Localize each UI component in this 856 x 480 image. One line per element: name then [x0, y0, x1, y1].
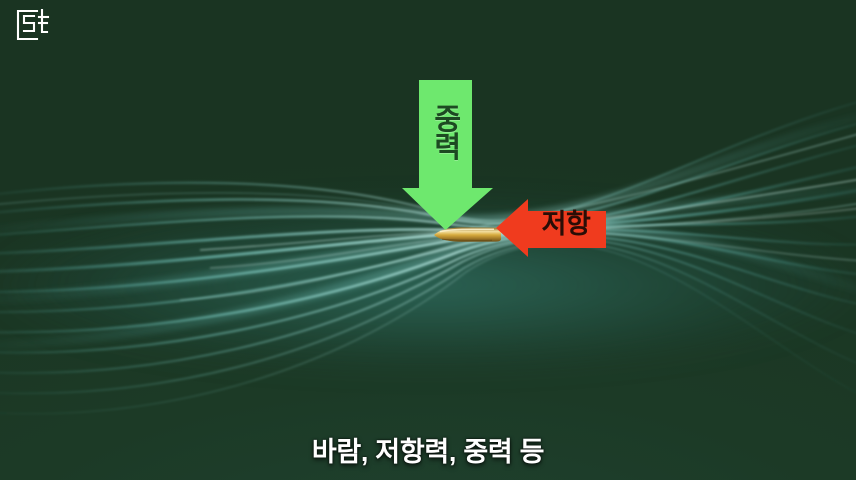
- logo-svg: [14, 8, 52, 42]
- gravity-arrow-label: 중 력: [400, 106, 495, 163]
- gravity-arrow: 중 력: [400, 80, 495, 232]
- streamlines-svg: [0, 0, 856, 480]
- video-frame: 중 력 저항 바람, 저항력, 중력 등: [0, 0, 856, 480]
- gravity-label-line-1: 중: [400, 106, 495, 134]
- caption-subtitle: 바람, 저항력, 중력 등: [0, 430, 856, 469]
- drag-arrow: 저항: [496, 198, 606, 258]
- streamline-field: [0, 0, 856, 480]
- gravity-label-line-2: 력: [400, 134, 495, 162]
- drag-arrow-label: 저항: [530, 211, 602, 238]
- st-monogram-logo: [14, 8, 52, 42]
